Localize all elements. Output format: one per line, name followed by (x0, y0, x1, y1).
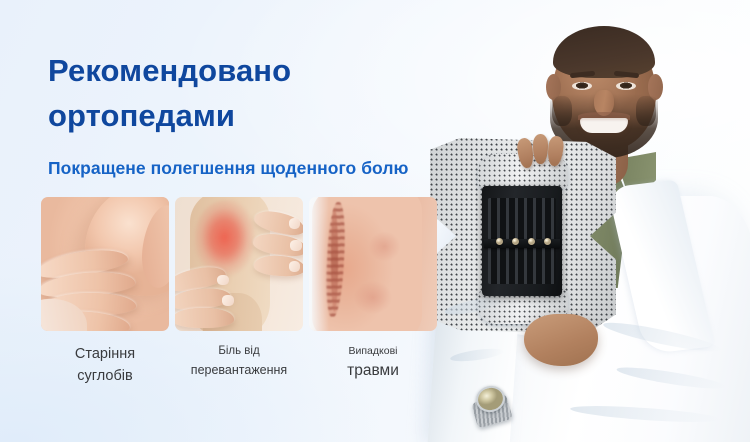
headline-block: Рекомендовано ортопедами Покращене полег… (48, 48, 409, 179)
fingernail-shape (289, 218, 301, 229)
caption-line-2: травми (309, 359, 437, 383)
page-title: Рекомендовано ортопедами (48, 48, 409, 138)
condition-card-aging-joints[interactable]: Старіння суглобів (41, 197, 169, 388)
knuckle-shape (528, 310, 545, 330)
brace-rivet (496, 238, 503, 245)
finger-shape (546, 135, 564, 166)
condition-caption: Випадкові травми (309, 343, 437, 383)
fingernail-shape (290, 240, 302, 251)
caption-line-1: Біль від (175, 343, 303, 361)
knuckle-shape (562, 310, 579, 330)
beard-sideburn-left (552, 96, 572, 126)
condition-card-list: Старіння суглобів Б (41, 197, 437, 388)
brace-rivet (528, 238, 535, 245)
fingernail-shape (289, 261, 301, 272)
knuckle-shape (578, 310, 595, 330)
caption-line-2: суглобів (41, 365, 169, 387)
beard-sideburn-right (636, 96, 656, 126)
finger-shape (175, 308, 234, 328)
brace-rivet (512, 238, 519, 245)
headline-line-2: ортопедами (48, 93, 409, 138)
skin-blotch (363, 226, 407, 266)
caption-line-1: Випадкові (309, 343, 437, 359)
condition-caption: Біль від перевантаження (175, 343, 303, 380)
hair (553, 26, 655, 78)
headline-line-1: Рекомендовано (48, 53, 291, 88)
condition-card-overload-pain[interactable]: Біль від перевантаження (175, 197, 303, 388)
eye-left (572, 82, 592, 90)
condition-card-accidental-injury[interactable]: Випадкові травми (309, 197, 437, 388)
inflamed-knee-held-by-hands-photo (175, 197, 303, 331)
caption-line-1: Старіння (41, 343, 169, 365)
subheadline: Покращене полегшення щоденного болю (48, 157, 409, 179)
brace-lumbar-support-panel (482, 186, 562, 296)
photo-edge-highlight (309, 197, 329, 331)
eye-right (616, 82, 636, 90)
knuckle-shape (545, 310, 562, 330)
hand-gripping-aching-joint-photo (41, 197, 169, 331)
fingernail-shape (222, 295, 234, 306)
smiling-doctor-in-white-coat (420, 0, 750, 442)
condition-caption: Старіння суглобів (41, 343, 169, 388)
skin-blotch (347, 275, 398, 321)
promo-banner: Рекомендовано ортопедами Покращене полег… (0, 0, 750, 442)
caption-line-2: перевантаження (175, 361, 303, 380)
fingernail-shape (217, 275, 229, 286)
brace-rivet (544, 238, 551, 245)
injured-knee-with-scar-photo (309, 197, 437, 331)
smiling-mouth (580, 118, 628, 133)
hand-holding-brace-bottom (520, 308, 612, 370)
hand-holding-brace-top (518, 134, 574, 168)
wristwatch (466, 384, 514, 424)
finger-shape (533, 134, 548, 164)
